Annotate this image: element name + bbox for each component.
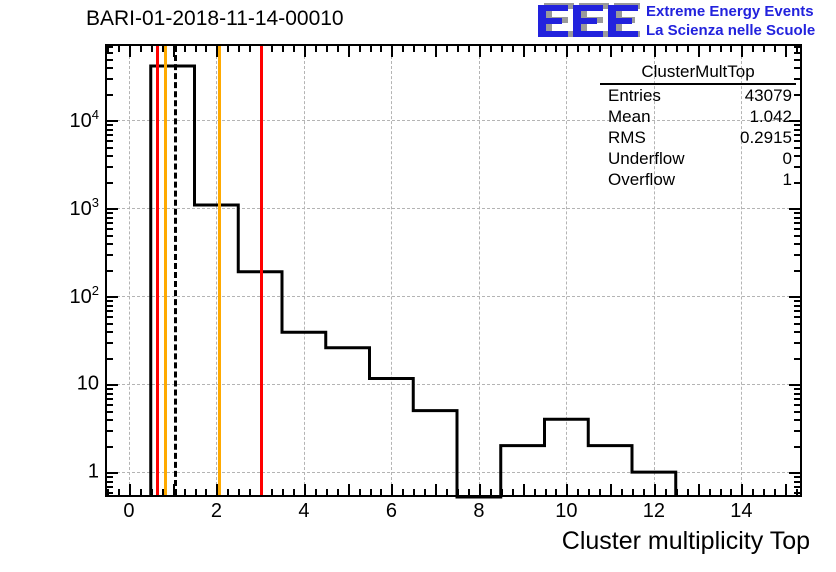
stats-row: RMS0.2915 xyxy=(600,127,796,148)
marker-line-1 xyxy=(164,46,167,495)
stats-row: Entries43079 xyxy=(600,85,796,106)
stats-key: Entries xyxy=(608,86,661,106)
stats-key: Overflow xyxy=(608,170,675,190)
stats-value: 0.2915 xyxy=(740,128,792,148)
page-title: BARI-01-2018-11-14-00010 xyxy=(86,7,344,31)
stats-value: 1.042 xyxy=(749,107,792,127)
stats-row: Overflow1 xyxy=(600,169,796,190)
y-tick-label: 10 xyxy=(77,373,99,396)
marker-line-0 xyxy=(156,46,159,495)
x-tick-label: 0 xyxy=(123,500,134,523)
eee-logo-line2: La Scienza nelle Scuole xyxy=(646,21,815,40)
x-tick-label: 6 xyxy=(386,500,397,523)
marker-line-4 xyxy=(260,46,263,495)
y-tick-label: 103 xyxy=(70,195,99,221)
stats-rows: Entries43079Mean1.042RMS0.2915Underflow0… xyxy=(600,85,796,190)
y-tick-label: 104 xyxy=(70,108,99,134)
stats-value: 0 xyxy=(783,149,792,169)
stats-value: 43079 xyxy=(745,86,792,106)
y-tick-label: 102 xyxy=(70,283,99,309)
x-tick-label: 12 xyxy=(643,500,665,523)
x-axis-title: Cluster multiplicity Top xyxy=(562,527,810,556)
stats-row: Underflow0 xyxy=(600,148,796,169)
stats-value: 1 xyxy=(783,170,792,190)
stats-key: Underflow xyxy=(608,149,685,169)
y-tick-label: 1 xyxy=(88,461,99,484)
root-canvas: BARI-01-2018-11-14-00010 xyxy=(0,0,836,572)
x-tick-label: 2 xyxy=(211,500,222,523)
stats-title: ClusterMultTop xyxy=(600,62,796,85)
x-tick-label: 4 xyxy=(298,500,309,523)
marker-line-2 xyxy=(174,46,177,495)
eee-logo-text: Extreme Energy Events La Scienza nelle S… xyxy=(646,2,815,40)
x-tick-label: 14 xyxy=(730,500,752,523)
stats-key: RMS xyxy=(608,128,646,148)
marker-line-3 xyxy=(218,46,221,495)
stats-key: Mean xyxy=(608,107,651,127)
x-tick-label: 10 xyxy=(555,500,577,523)
histogram-outline xyxy=(151,66,676,497)
eee-logo-mark xyxy=(536,3,638,37)
eee-logo-line1: Extreme Energy Events xyxy=(646,2,815,21)
stats-row: Mean1.042 xyxy=(600,106,796,127)
eee-logo: Extreme Energy Events La Scienza nelle S… xyxy=(536,2,834,42)
x-tick-label: 8 xyxy=(473,500,484,523)
stats-box: ClusterMultTop Entries43079Mean1.042RMS0… xyxy=(600,62,796,190)
